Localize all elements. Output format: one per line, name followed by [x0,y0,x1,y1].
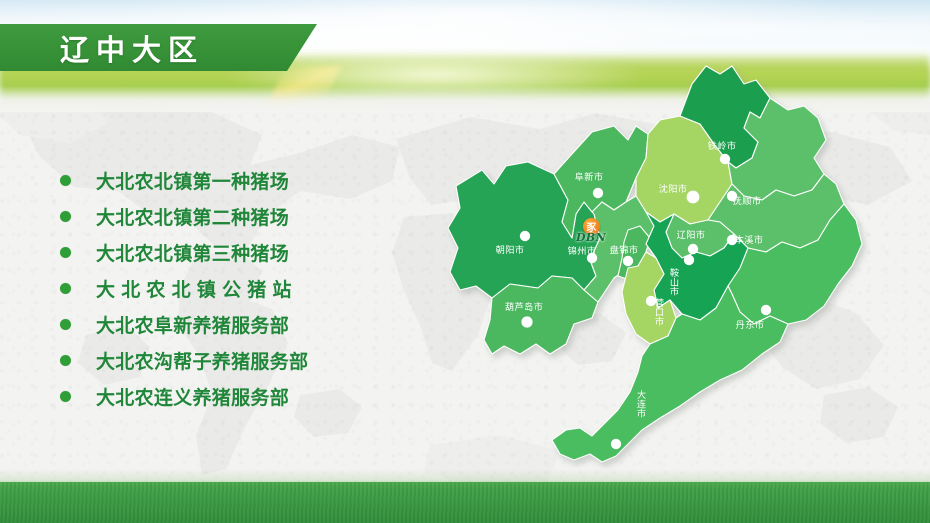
city-label-anshan: 鞍山市 [668,267,680,296]
city-label-tieling: 铁岭市 [708,140,737,152]
dbn-brand-text: DBN [570,231,612,244]
city-label-dandong: 丹东市 [736,319,765,331]
city-label-fushun: 抚顺市 [733,195,762,207]
city-label-liaoyang: 辽阳市 [677,229,706,241]
city-dot-dandong[interactable] [761,305,771,315]
list-item[interactable]: 大北农连义养猪服务部 [60,378,370,414]
list-item[interactable]: 大北农北镇公猪站 [60,270,370,306]
slide-canvas: 辽中大区 大北农北镇第一种猪场 大北农北镇第二种猪场 大北农北镇第三种猪场 大北… [0,0,930,523]
city-dot-chaoyang[interactable] [520,231,530,241]
city-dot-liaoyang[interactable] [688,244,698,254]
liaoning-province-map[interactable]: 朝阳市 阜新市 铁岭市 沈阳市 抚顺市 本溪市 锦州市 盘锦市 辽阳市 鞍山市 … [432,62,910,480]
map-regions [448,66,862,462]
city-dot-panjin[interactable] [623,256,633,266]
list-item[interactable]: 大北农阜新养猪服务部 [60,306,370,342]
page-title: 辽中大区 [0,24,317,71]
facility-list: 大北农北镇第一种猪场 大北农北镇第二种猪场 大北农北镇第三种猪场 大北农北镇公猪… [60,162,370,414]
bullet-icon [60,175,71,186]
list-item[interactable]: 大北农北镇第一种猪场 [60,162,370,198]
bullet-icon [60,283,71,294]
city-label-fuxin: 阜新市 [575,171,604,183]
city-dot-anshan[interactable] [684,255,694,265]
city-dot-shenyang[interactable] [687,191,700,204]
bullet-icon [60,247,71,258]
list-item-label: 大北农北镇第一种猪场 [96,167,289,194]
dbn-logo[interactable]: 豕 DBN [570,218,612,248]
list-item[interactable]: 大北农北镇第二种猪场 [60,198,370,234]
city-label-huludao: 葫芦岛市 [505,301,543,313]
city-dot-huludao[interactable] [521,316,532,327]
list-item-label: 大北农北镇公猪站 [96,275,298,302]
city-dot-fuxin[interactable] [593,188,603,198]
bullet-icon [60,355,71,366]
bullet-icon [60,391,71,402]
city-label-dalian: 大连市 [635,389,647,418]
list-item-label: 大北农北镇第二种猪场 [96,203,289,230]
city-dot-dalian[interactable] [611,439,621,449]
bullet-icon [60,319,71,330]
list-item[interactable]: 大北农北镇第三种猪场 [60,234,370,270]
bullet-icon [60,211,71,222]
city-label-chaoyang: 朝阳市 [496,244,525,256]
list-item-label: 大北农阜新养猪服务部 [96,311,289,338]
list-item[interactable]: 大北农沟帮子养猪服务部 [60,342,370,378]
city-label-benxi: 本溪市 [735,234,764,246]
list-item-label: 大北农连义养猪服务部 [96,383,289,410]
city-label-shenyang: 沈阳市 [659,183,688,195]
list-item-label: 大北农北镇第三种猪场 [96,239,289,266]
city-dot-tieling[interactable] [720,154,730,164]
bottom-grass-strip [0,482,930,523]
list-item-label: 大北农沟帮子养猪服务部 [96,347,308,374]
city-label-panjin: 盘锦市 [610,244,639,256]
city-label-yingkou: 营口市 [653,297,665,326]
